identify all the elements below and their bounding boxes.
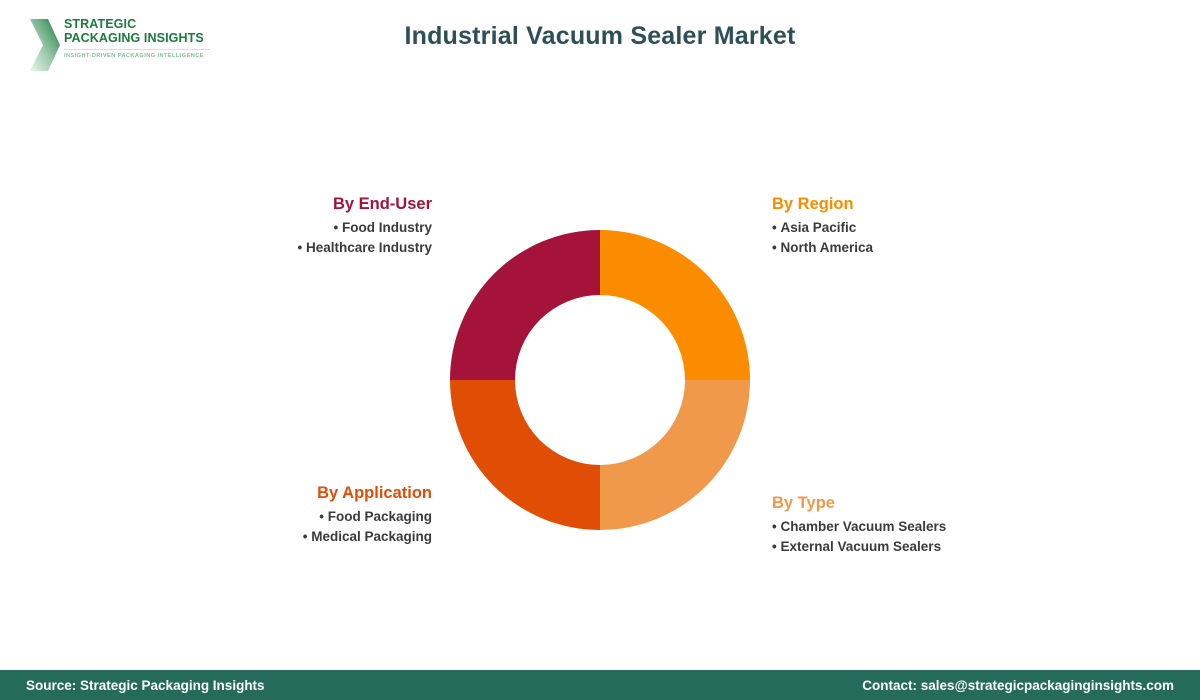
- segment-list-end-user: • Food Industry • Healthcare Industry: [168, 218, 432, 257]
- list-item: • Healthcare Industry: [168, 238, 432, 258]
- segment-title-end-user: By End-User: [168, 194, 432, 214]
- logo-tagline: INSIGHT-DRIVEN PACKAGING INTELLIGENCE: [64, 53, 210, 59]
- footer-contact: Contact: sales@strategicpackaginginsight…: [862, 678, 1174, 693]
- segment-list-region: • Asia Pacific • North America: [772, 218, 1032, 257]
- segment-block-application: By Application • Food Packaging • Medica…: [168, 483, 432, 546]
- list-item: • Medical Packaging: [168, 527, 432, 547]
- segment-item-label: Healthcare Industry: [306, 240, 432, 255]
- footer-bar: Source: Strategic Packaging Insights Con…: [0, 670, 1200, 700]
- segment-item-label: External Vacuum Sealers: [780, 539, 941, 554]
- segment-item-label: Asia Pacific: [780, 220, 856, 235]
- donut-segment-enduser: [450, 230, 600, 380]
- donut-segment-region: [600, 230, 750, 380]
- list-item: • Chamber Vacuum Sealers: [772, 517, 1032, 537]
- segment-item-label: North America: [780, 240, 873, 255]
- segment-list-application: • Food Packaging • Medical Packaging: [168, 507, 432, 546]
- list-item: • Asia Pacific: [772, 218, 1032, 238]
- footer-source: Source: Strategic Packaging Insights: [26, 678, 265, 693]
- list-item: • Food Packaging: [168, 507, 432, 527]
- segment-title-application: By Application: [168, 483, 432, 503]
- segment-item-label: Medical Packaging: [311, 529, 432, 544]
- segment-title-region: By Region: [772, 194, 1032, 214]
- infographic-page: STRATEGIC PACKAGING INSIGHTS INSIGHT-DRI…: [0, 0, 1200, 700]
- list-item: • External Vacuum Sealers: [772, 537, 1032, 557]
- donut-segment-type: [600, 380, 750, 530]
- segment-title-type: By Type: [772, 493, 1032, 513]
- segment-item-label: Food Packaging: [328, 509, 432, 524]
- list-item: • Food Industry: [168, 218, 432, 238]
- segment-item-label: Food Industry: [342, 220, 432, 235]
- segment-item-label: Chamber Vacuum Sealers: [780, 519, 946, 534]
- segment-block-region: By Region • Asia Pacific • North America: [772, 194, 1032, 257]
- page-title: Industrial Vacuum Sealer Market: [0, 22, 1200, 51]
- segment-block-type: By Type • Chamber Vacuum Sealers • Exter…: [772, 493, 1032, 556]
- donut-chart: [450, 230, 750, 530]
- segment-block-end-user: By End-User • Food Industry • Healthcare…: [168, 194, 432, 257]
- donut-segment-application: [450, 380, 600, 530]
- list-item: • North America: [772, 238, 1032, 258]
- segment-list-type: • Chamber Vacuum Sealers • External Vacu…: [772, 517, 1032, 556]
